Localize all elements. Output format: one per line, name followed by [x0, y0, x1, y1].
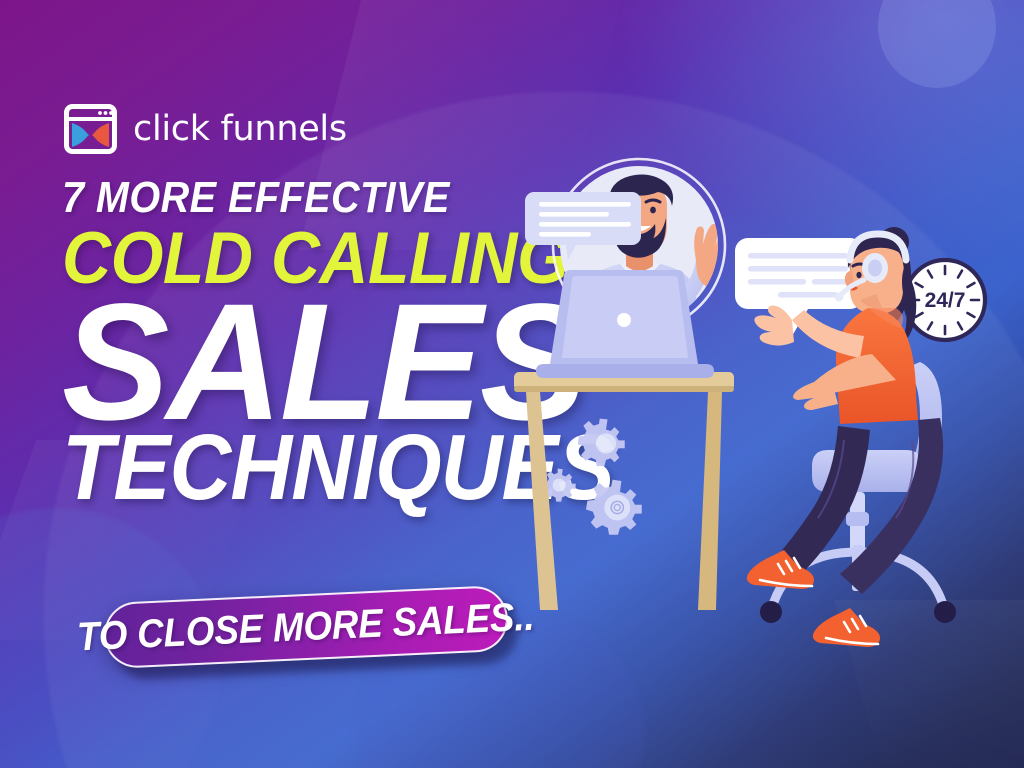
badge-label: TO CLOSE MORE SALES..	[76, 594, 535, 660]
headline-block: 7 MORE EFFECTIVE COLD CALLING SALES TECH…	[62, 178, 582, 511]
headline-line-4: TECHNIQUES	[62, 425, 540, 511]
clock-24-7-icon: 24/7	[905, 260, 985, 340]
gears-group-icon	[543, 419, 642, 535]
background-circle-topright	[878, 0, 996, 88]
clickfunnels-browser-funnel-icon	[64, 104, 117, 154]
subheadline-badge[interactable]: TO CLOSE MORE SALES..	[103, 585, 510, 669]
brand-name: click funnels	[133, 112, 347, 147]
banner-canvas: click funnels 7 MORE EFFECTIVE COLD CALL…	[0, 0, 1024, 768]
wooden-desk	[514, 370, 740, 610]
clock-label: 24/7	[925, 289, 966, 312]
headline-line-1: 7 MORE EFFECTIVE	[62, 178, 530, 218]
hero-illustration: 24/7	[520, 140, 1020, 660]
brand-logo[interactable]: click funnels	[64, 104, 347, 154]
